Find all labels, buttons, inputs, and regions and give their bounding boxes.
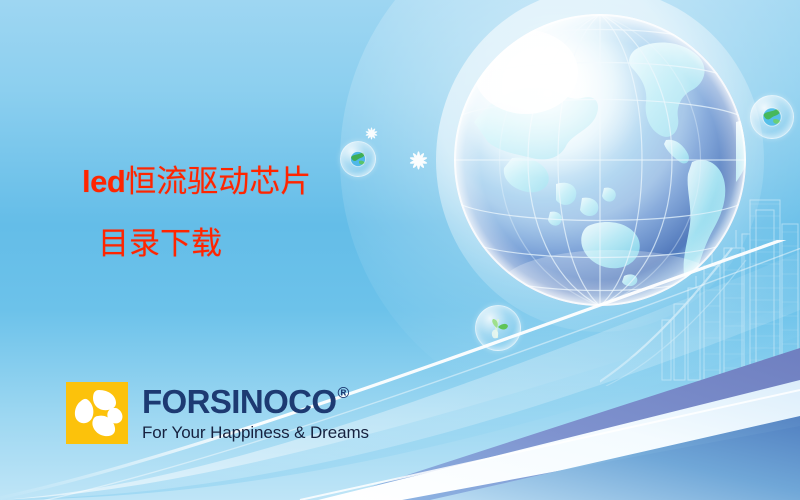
sparkle-small-icon bbox=[362, 124, 381, 143]
world-globe bbox=[452, 2, 748, 318]
globe-halo bbox=[436, 0, 764, 332]
headline-line-2: 目录下载 bbox=[98, 224, 412, 264]
company-logo[interactable]: FORSINOCO® For Your Happiness & Dreams bbox=[66, 382, 369, 444]
banner-headline: led恒流驱动芯片 目录下载 bbox=[82, 162, 412, 265]
registered-trademark-icon: ® bbox=[337, 386, 348, 402]
globe-icon bbox=[761, 106, 783, 128]
logo-text-block: FORSINOCO® For Your Happiness & Dreams bbox=[142, 385, 369, 441]
logo-mark bbox=[66, 382, 128, 444]
headline-line-1: led恒流驱动芯片 bbox=[82, 162, 412, 202]
promo-banner: led恒流驱动芯片 目录下载 FORSINOCO® For Your Happi… bbox=[0, 0, 800, 500]
four-petal-flower-icon bbox=[66, 382, 128, 444]
leaf-sprout-icon bbox=[485, 315, 511, 341]
headline-cjk-text: 恒流驱动芯片 bbox=[125, 164, 311, 200]
logo-name-text: FORSINOCO bbox=[142, 385, 336, 418]
bubble-edge-right bbox=[750, 95, 794, 139]
headline-latin-text: led bbox=[82, 164, 125, 199]
logo-company-name: FORSINOCO® bbox=[142, 385, 369, 418]
logo-tagline: For Your Happiness & Dreams bbox=[142, 424, 369, 441]
bubble-leaf bbox=[475, 305, 521, 351]
